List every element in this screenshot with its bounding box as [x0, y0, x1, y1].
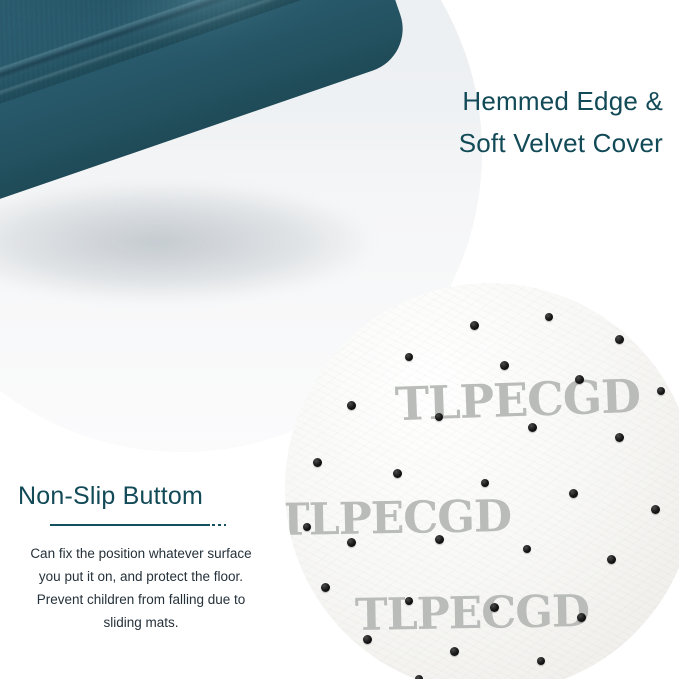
mat-dot: [450, 647, 459, 656]
mat-dot: [405, 597, 413, 605]
mat-dot: [363, 635, 372, 644]
mat-dot: [347, 401, 356, 410]
headline-text: Hemmed Edge & Soft Velvet Cover: [243, 80, 663, 164]
mat-dot: [607, 555, 616, 564]
mat-dot: [435, 413, 443, 421]
mat-dot: [615, 433, 624, 442]
title-underline-rule: [50, 524, 210, 526]
mat-dot: [537, 657, 545, 665]
mat-dot: [523, 545, 531, 553]
mat-dot: [645, 623, 653, 631]
mat-dot: [321, 583, 330, 592]
mat-dot: [575, 375, 584, 384]
non-slip-mat-photo-circle: TLPECGD TLPECGD TLPECGD: [285, 283, 679, 679]
mat-dot: [603, 665, 612, 674]
mat-dot: [577, 613, 586, 622]
mat-brand-text-2: TLPECGD: [285, 491, 511, 546]
mat-dot: [651, 505, 660, 514]
mat-brand-text-3: TLPECGD: [355, 586, 590, 641]
description-line-2: you put it on, and protect the floor.: [10, 565, 272, 588]
mat-dot: [481, 479, 489, 487]
description-line-4: sliding mats.: [10, 611, 272, 634]
mat-dot: [303, 523, 311, 531]
mat-dot: [528, 423, 537, 432]
mat-brand-text-1: TLPECGD: [394, 369, 641, 432]
mat-dot: [405, 353, 413, 361]
mat-dot: [500, 361, 509, 370]
mat-dot: [615, 335, 624, 344]
mat-dot: [415, 675, 423, 679]
mat-dot: [569, 489, 578, 498]
mat-dot: [657, 387, 665, 395]
feature-description: Can fix the position whatever surface yo…: [10, 542, 272, 634]
headline-line-2: Soft Velvet Cover: [243, 122, 663, 164]
headline-line-1: Hemmed Edge &: [243, 80, 663, 122]
mat-dot: [313, 458, 322, 467]
mat-dot: [470, 321, 479, 330]
product-feature-image: TLPECGD TLPECGD TLPECGD: [0, 0, 679, 679]
mat-dot: [435, 535, 444, 544]
feature-title: Non-Slip Buttom: [18, 482, 203, 511]
description-line-1: Can fix the position whatever surface: [10, 542, 272, 565]
description-line-3: Prevent children from falling due to: [10, 588, 272, 611]
mat-dot: [545, 313, 553, 321]
mat-dot: [393, 469, 402, 478]
mat-dot: [490, 603, 499, 612]
mat-dot: [347, 538, 356, 547]
